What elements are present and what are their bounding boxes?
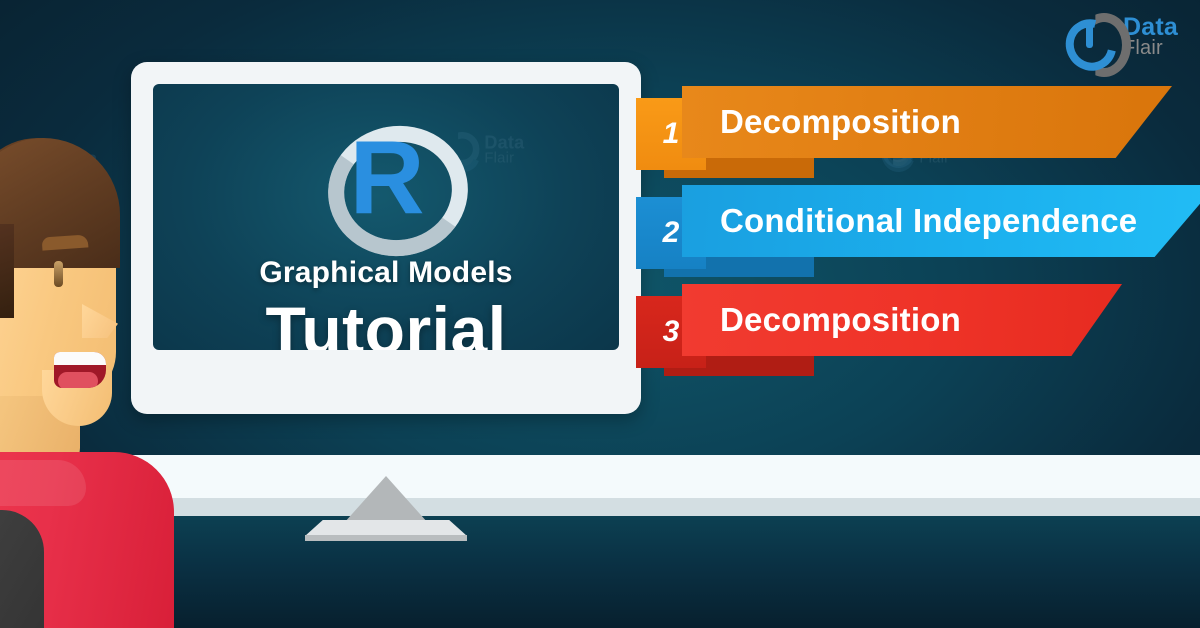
banner-item-3[interactable]: 3 Decomposition: [636, 284, 1200, 366]
brand-line1: Data: [1123, 16, 1178, 40]
dataflair-logo-icon: [1066, 13, 1114, 61]
banner-item-1[interactable]: 1 Decomposition: [636, 86, 1200, 168]
mouth: [54, 352, 106, 388]
poster-canvas: Data Flair Data Flair Data Flair Data Fl…: [0, 0, 1200, 628]
floor-area: [0, 516, 1200, 628]
tongue: [58, 372, 98, 388]
banner-bar[interactable]: Decomposition: [682, 284, 1122, 356]
cartoon-person-profile: [0, 138, 190, 498]
watermark-line1: Data: [484, 134, 524, 151]
banner-label: Decomposition: [682, 103, 961, 141]
watermark-line2: Flair: [484, 151, 524, 165]
teeth: [54, 352, 106, 365]
monitor-screen: Data Flair R Graphical Models Tutorial: [153, 84, 619, 350]
banner-item-2[interactable]: 2 Conditional Independence: [636, 185, 1200, 267]
monitor: Data Flair R Graphical Models Tutorial: [131, 62, 641, 414]
topic-banner-list: 1 Decomposition 2 Conditional Independen…: [636, 86, 1200, 386]
screen-subtitle: Tutorial: [153, 292, 619, 350]
monitor-stand-neck: [344, 476, 428, 523]
banner-bar[interactable]: Conditional Independence: [682, 185, 1200, 257]
desk-edge: [0, 498, 1200, 516]
dataflair-logo: Data Flair: [1066, 13, 1178, 61]
chair-highlight: [0, 460, 86, 506]
banner-bar[interactable]: Decomposition: [682, 86, 1172, 158]
r-language-logo-icon: R: [322, 124, 450, 234]
office-chair: [0, 452, 174, 628]
r-logo-letter: R: [322, 124, 450, 234]
monitor-stand-base-lip: [305, 535, 467, 541]
banner-label: Decomposition: [682, 301, 961, 339]
banner-label: Conditional Independence: [682, 202, 1137, 240]
brand-line2: Flair: [1123, 39, 1178, 58]
screen-title: Graphical Models: [153, 256, 619, 290]
hair-side: [0, 224, 14, 318]
monitor-stand-base: [305, 520, 467, 536]
eye: [54, 261, 63, 287]
